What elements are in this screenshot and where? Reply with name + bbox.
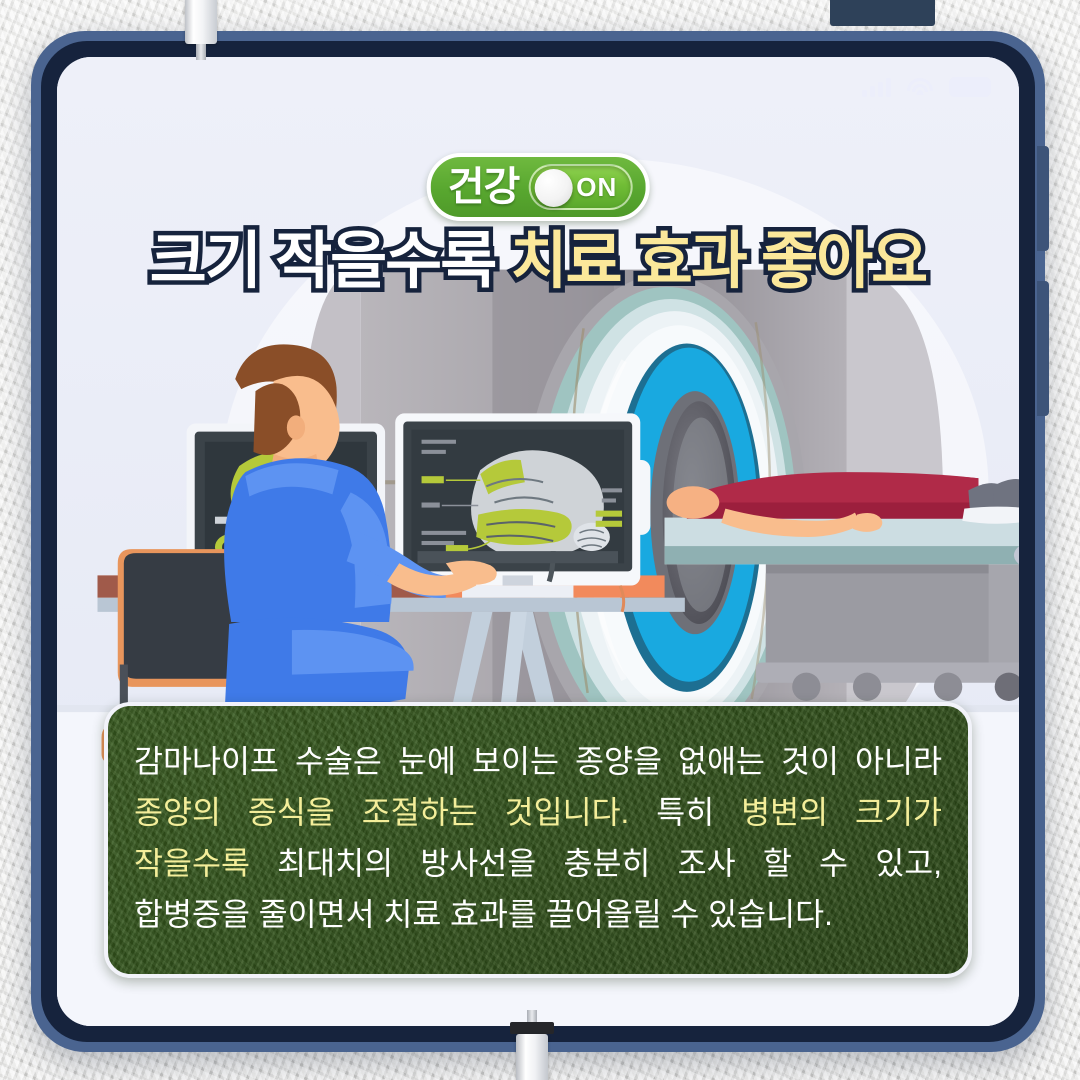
volume-up-button[interactable] — [1037, 146, 1049, 251]
logo-label: 건강 — [448, 167, 520, 207]
description-line: 감마나이프 수술은 눈에 보이는 종양을 없애는 것이 아니라 — [134, 736, 942, 787]
wifi-icon — [907, 78, 933, 97]
binder-clip-top-icon — [185, 0, 217, 60]
volume-down-button[interactable] — [1037, 281, 1049, 416]
binder-clip-bottom-icon — [516, 1010, 548, 1080]
description-segment: 감마나이프 수술은 눈에 보이는 종양을 없애는 것이 아니라 — [134, 743, 942, 779]
page-title-part1: 크기 작을수록 — [150, 227, 511, 296]
description-line: 합병증을 줄이면서 치료 효과를 끌어올릴 수 있습니다. — [134, 889, 942, 940]
description-segment-highlight: 종양의 증식을 조절하는 것입니다. — [134, 794, 629, 830]
health-on-logo-badge[interactable]: 건강 ON — [427, 153, 650, 221]
on-toggle-switch[interactable]: ON — [528, 164, 632, 210]
description-segment: 합병증을 줄이면서 치료 효과를 끌어올릴 수 있습니다. — [134, 896, 833, 932]
description-line: 종양의 증식을 조절하는 것입니다. 특히 병변의 크기가 — [134, 787, 942, 838]
phone-screen: 건강 ON 크기 작을수록 치료 효과 좋아요 감마나이프 수술은 눈에 보이는… — [57, 57, 1019, 1026]
status-bar — [862, 77, 991, 97]
description-segment-highlight: 작을수록 — [134, 845, 250, 881]
page-title-part2: 치료 효과 좋아요 — [510, 227, 926, 296]
cellular-signal-icon — [862, 78, 891, 97]
toggle-knob — [534, 169, 572, 207]
description-segment: 최대치의 방사선을 충분히 조사 할 수 있고, — [250, 845, 942, 881]
description-segment-highlight: 병변의 크기가 — [741, 794, 942, 830]
page-title: 크기 작을수록 치료 효과 좋아요 — [57, 231, 1019, 293]
toggle-state-label: ON — [576, 172, 617, 203]
battery-icon — [949, 77, 991, 97]
description-segment: 특히 — [629, 794, 741, 830]
phone-frame: 건강 ON 크기 작을수록 치료 효과 좋아요 감마나이프 수술은 눈에 보이는… — [31, 31, 1045, 1052]
phone-bezel: 건강 ON 크기 작을수록 치료 효과 좋아요 감마나이프 수술은 눈에 보이는… — [41, 41, 1035, 1042]
corner-tab — [830, 0, 935, 26]
description-card: 감마나이프 수술은 눈에 보이는 종양을 없애는 것이 아니라 종양의 증식을 … — [104, 702, 972, 978]
description-line: 작을수록 최대치의 방사선을 충분히 조사 할 수 있고, — [134, 838, 942, 889]
